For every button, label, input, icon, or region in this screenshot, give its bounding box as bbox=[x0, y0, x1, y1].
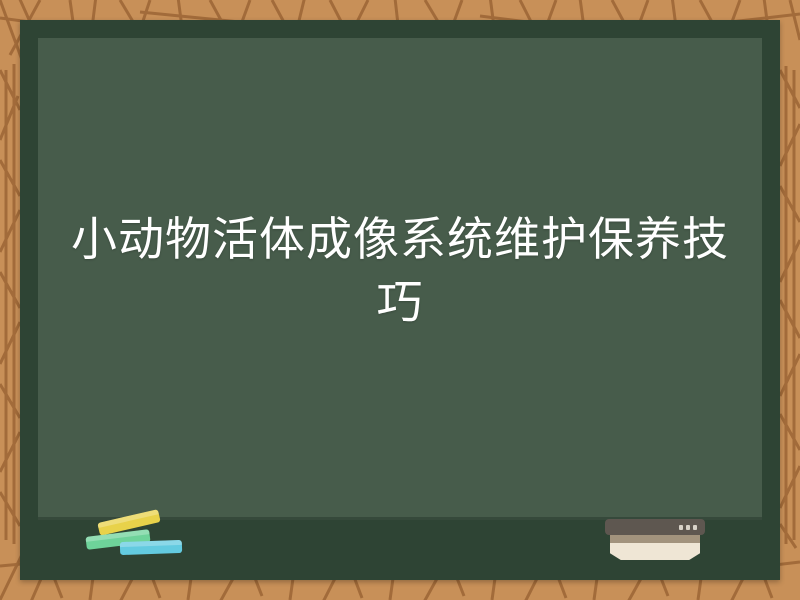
chalkboard: 小动物活体成像系统维护保养技巧 bbox=[20, 20, 780, 580]
eraser-handle bbox=[605, 519, 705, 535]
chalkboard-writing-surface: 小动物活体成像系统维护保养技巧 bbox=[38, 38, 762, 520]
page-title: 小动物活体成像系统维护保养技巧 bbox=[38, 208, 762, 335]
blackboard-eraser bbox=[605, 519, 705, 559]
blue-chalk-stick bbox=[120, 540, 182, 555]
eraser-dots-icon bbox=[679, 525, 697, 530]
eraser-felt-pad bbox=[610, 543, 700, 560]
eraser-band bbox=[610, 535, 700, 543]
